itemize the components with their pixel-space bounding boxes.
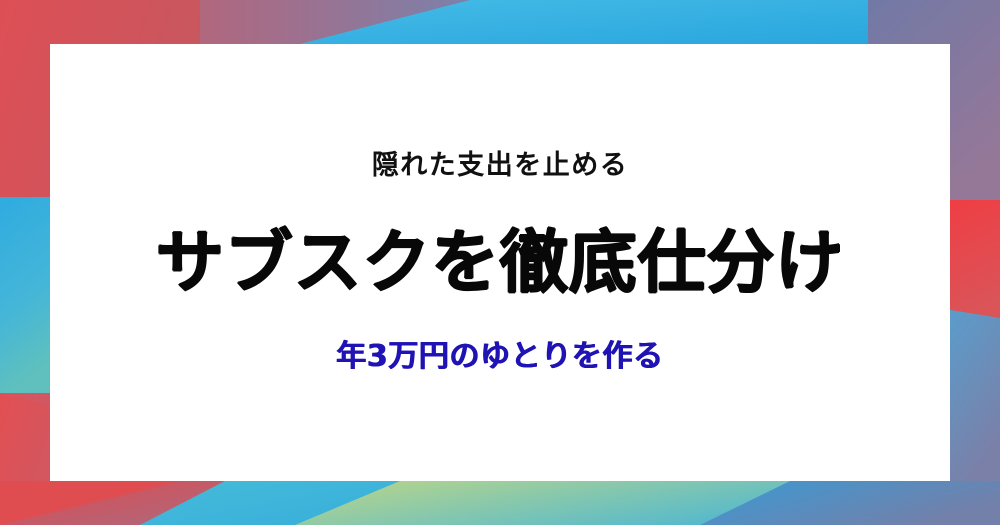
eyebrow-text: 隠れた支出を止める (90, 149, 910, 183)
subtitle-text: 年3万円のゆとりを作る (90, 338, 910, 376)
page-title: サブスクを徹底仕分け (90, 225, 910, 303)
bg-left-blue-teal-column (0, 197, 50, 393)
bg-right-red-block (950, 200, 1000, 318)
content-card: 隠れた支出を止める サブスクを徹底仕分け 年3万円のゆとりを作る (50, 44, 950, 481)
slide-canvas: 隠れた支出を止める サブスクを徹底仕分け 年3万円のゆとりを作る (0, 0, 1000, 525)
text-stack: 隠れた支出を止める サブスクを徹底仕分け 年3万円のゆとりを作る (50, 149, 950, 376)
bg-right-blue-block (950, 310, 1000, 481)
bg-left-bottom-red-wedge (0, 393, 50, 481)
